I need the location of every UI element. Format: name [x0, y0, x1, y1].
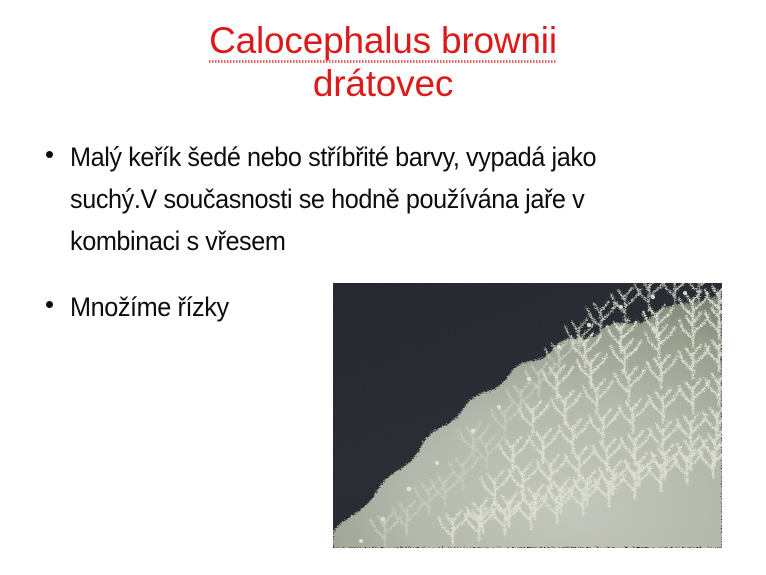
bullet-dot-icon: [46, 151, 53, 158]
plant-photo-graphic: [333, 283, 722, 548]
title-line-1: Calocephalus brownii: [0, 20, 766, 63]
bullet-dot-icon: [46, 301, 53, 308]
slide: Calocephalus brownii drátovec Malý keřík…: [0, 0, 766, 575]
slide-title: Calocephalus brownii drátovec: [0, 20, 766, 105]
list-item: Malý keřík šedé nebo stříbřité barvy, vy…: [34, 136, 734, 262]
title-line-2: drátovec: [0, 63, 766, 104]
list-item-text: Malý keřík šedé nebo stříbřité barvy, vy…: [70, 136, 668, 262]
title-line-1-text: Calocephalus brownii: [209, 20, 557, 63]
plant-photo: [333, 283, 722, 548]
